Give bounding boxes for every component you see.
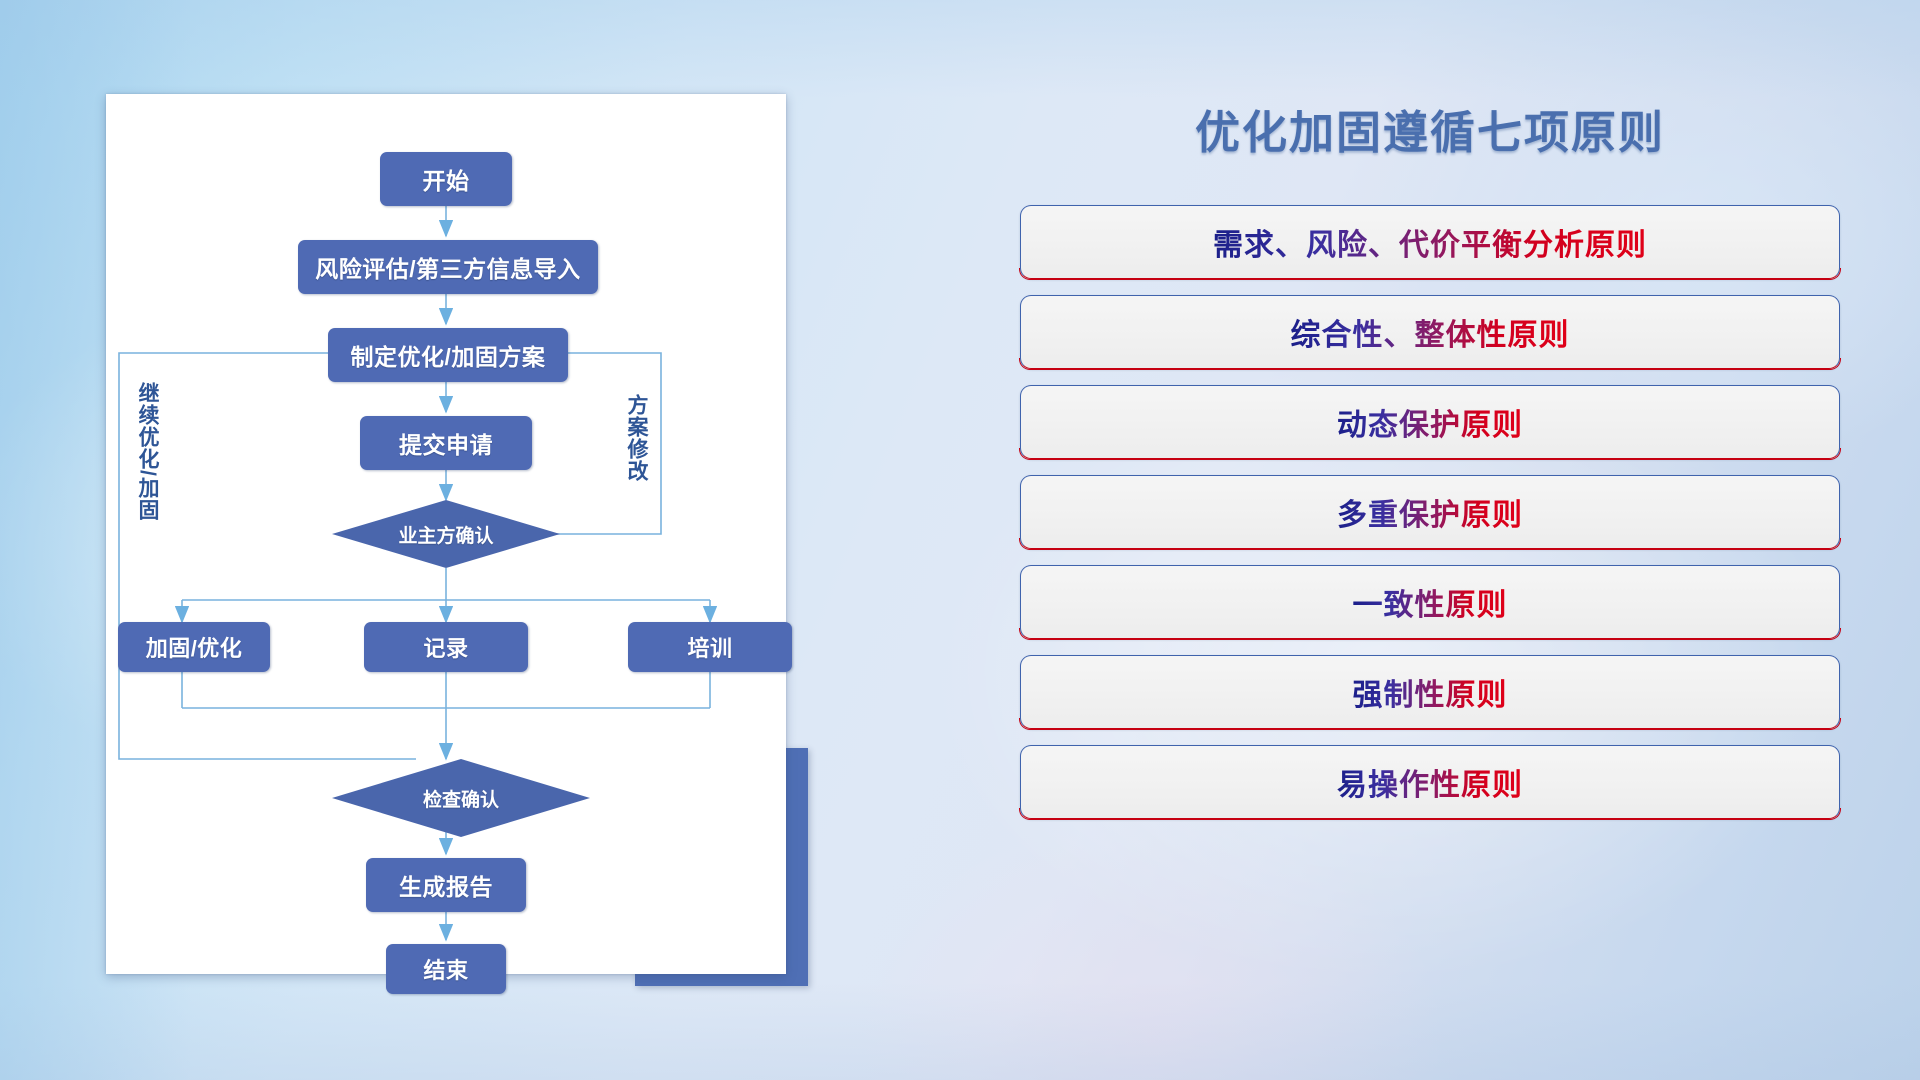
flow-node-end[interactable]: 结束 bbox=[386, 944, 506, 994]
flow-node-label: 检查确认 bbox=[423, 785, 499, 812]
principles-title: 优化加固遵循七项原则 bbox=[1020, 96, 1840, 161]
flow-node-risk-assessment[interactable]: 风险评估/第三方信息导入 bbox=[298, 240, 598, 294]
flow-node-label: 记录 bbox=[423, 631, 468, 663]
flow-node-training[interactable]: 培训 bbox=[628, 622, 792, 672]
edge-label-continue-optimize: 继续优化/加固 bbox=[136, 382, 158, 521]
flow-node-record[interactable]: 记录 bbox=[364, 622, 528, 672]
principle-label: 一致性原则 bbox=[1353, 580, 1508, 624]
principle-item-7[interactable]: 易操作性原则 bbox=[1020, 745, 1840, 819]
flow-node-label: 生成报告 bbox=[399, 868, 493, 902]
principle-label: 需求、风险、代价平衡分析原则 bbox=[1213, 220, 1647, 264]
principle-item-2[interactable]: 综合性、整体性原则 bbox=[1020, 295, 1840, 369]
flowchart: 开始 风险评估/第三方信息导入 制定优化/加固方案 提交申请 业主方确认 加固/… bbox=[106, 94, 786, 974]
principle-item-1[interactable]: 需求、风险、代价平衡分析原则 bbox=[1020, 205, 1840, 279]
principle-item-5[interactable]: 一致性原则 bbox=[1020, 565, 1840, 639]
flow-node-submit-application[interactable]: 提交申请 bbox=[360, 416, 532, 470]
flow-node-start[interactable]: 开始 bbox=[380, 152, 512, 206]
principle-label: 强制性原则 bbox=[1353, 670, 1508, 714]
principles-panel: 优化加固遵循七项原则 需求、风险、代价平衡分析原则 综合性、整体性原则 动态保护… bbox=[1020, 96, 1840, 1006]
principle-item-4[interactable]: 多重保护原则 bbox=[1020, 475, 1840, 549]
flow-node-generate-report[interactable]: 生成报告 bbox=[366, 858, 526, 912]
principle-label: 易操作性原则 bbox=[1337, 760, 1523, 804]
principle-item-3[interactable]: 动态保护原则 bbox=[1020, 385, 1840, 459]
principle-label: 多重保护原则 bbox=[1337, 490, 1523, 534]
flow-node-label: 制定优化/加固方案 bbox=[351, 338, 546, 372]
principle-label: 综合性、整体性原则 bbox=[1291, 310, 1570, 354]
flow-node-label: 培训 bbox=[687, 631, 732, 663]
flow-node-label: 开始 bbox=[423, 162, 470, 196]
flow-node-plan[interactable]: 制定优化/加固方案 bbox=[328, 328, 568, 382]
principle-label: 动态保护原则 bbox=[1337, 400, 1523, 444]
flow-node-reinforce-optimize[interactable]: 加固/优化 bbox=[118, 622, 270, 672]
flow-node-label: 加固/优化 bbox=[146, 631, 243, 663]
flow-node-label: 提交申请 bbox=[399, 426, 493, 460]
flow-node-label: 结束 bbox=[423, 953, 468, 985]
edge-label-plan-revision: 方案修改 bbox=[625, 394, 647, 482]
flow-node-label: 业主方确认 bbox=[398, 521, 493, 548]
flow-node-label: 风险评估/第三方信息导入 bbox=[315, 250, 580, 284]
principle-item-6[interactable]: 强制性原则 bbox=[1020, 655, 1840, 729]
